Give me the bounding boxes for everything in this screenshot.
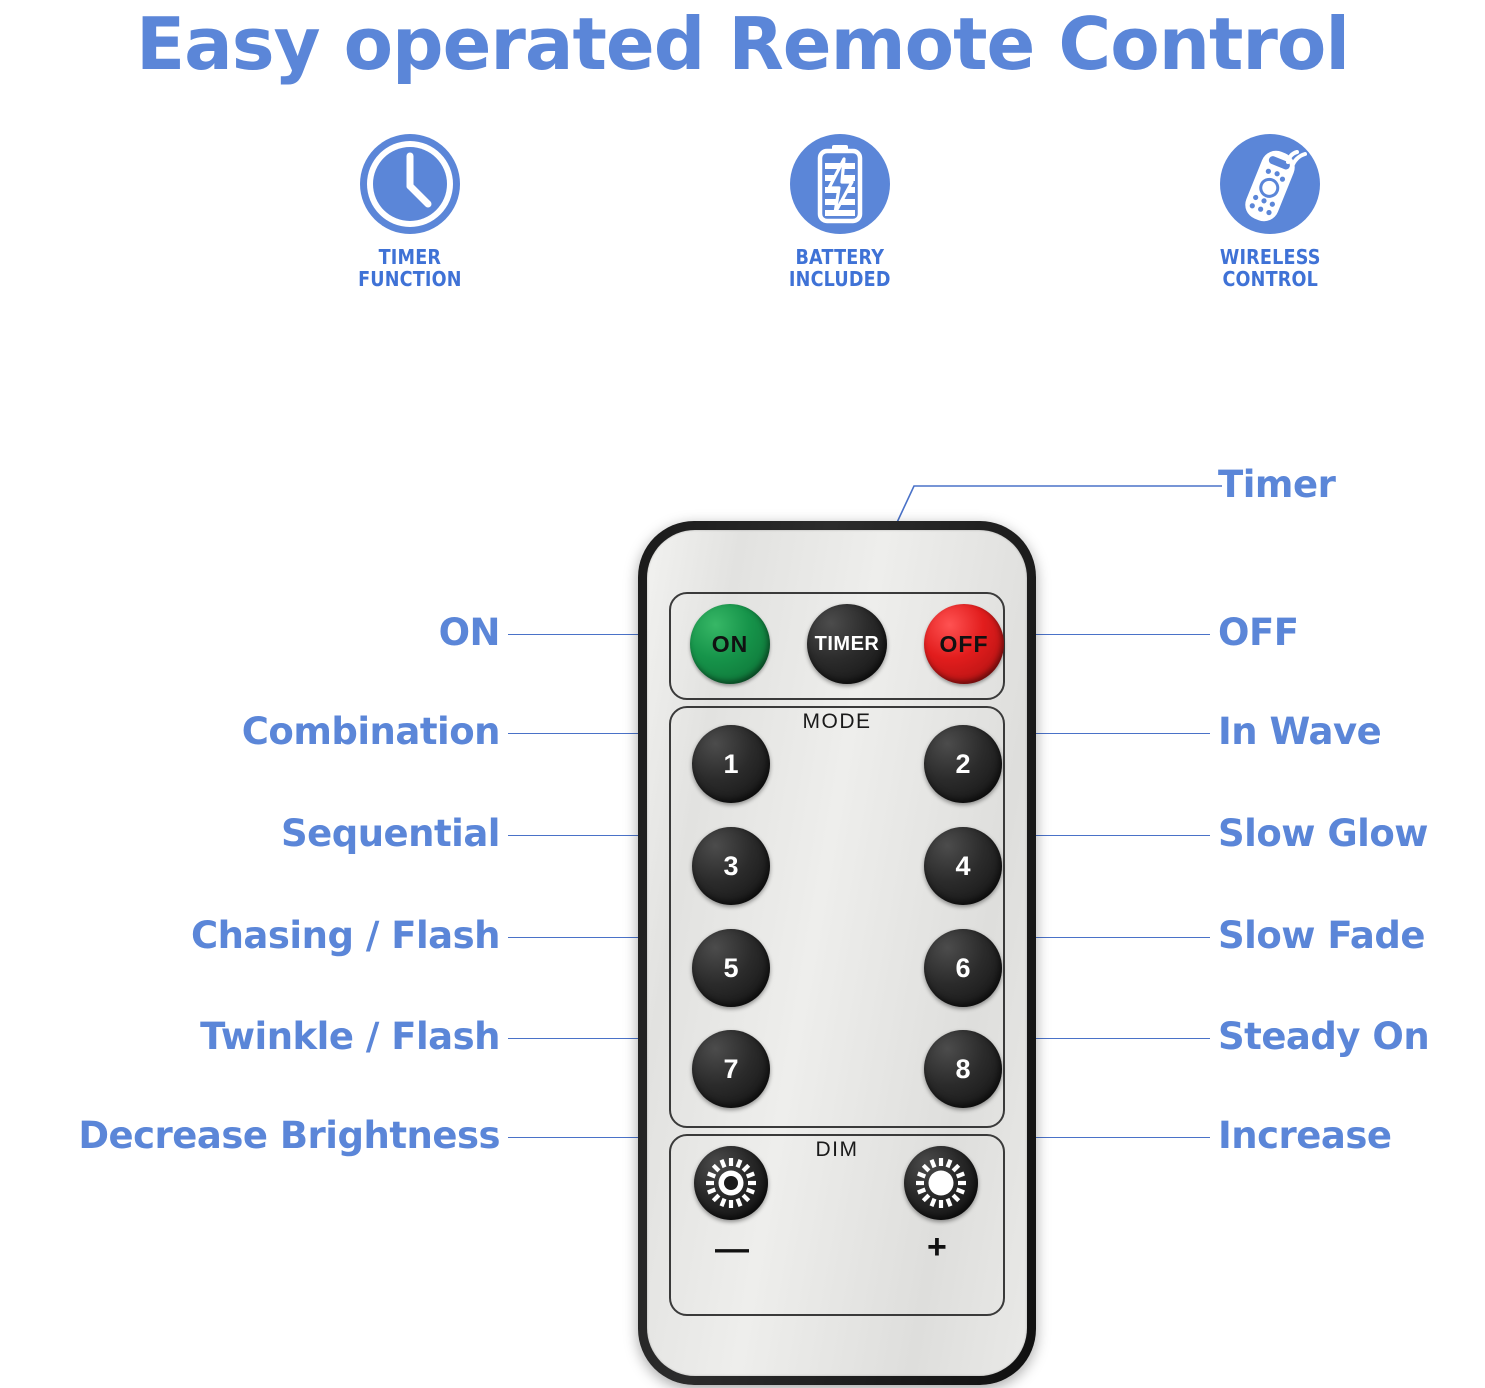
- callout-slow-glow: Slow Glow: [1218, 812, 1428, 855]
- feature-label: TIMER FUNCTION: [358, 246, 462, 291]
- feature-label: BATTERY INCLUDED: [789, 246, 891, 291]
- clock-icon: [358, 132, 462, 236]
- remote-faceplate: ON TIMER OFF MODE 1 2 3 4 5 6 7 8 DIM: [647, 530, 1027, 1376]
- callout-steady-on: Steady On: [1218, 1015, 1429, 1058]
- callout-sequential: Sequential: [0, 812, 500, 855]
- mode-button-8[interactable]: 8: [924, 1030, 1002, 1108]
- callout-decrease-brightness: Decrease Brightness: [0, 1114, 500, 1157]
- callout-slow-fade: Slow Fade: [1218, 914, 1425, 957]
- timer-button[interactable]: TIMER: [807, 604, 887, 684]
- mode-button-1[interactable]: 1: [692, 725, 770, 803]
- mode-button-2[interactable]: 2: [924, 725, 1002, 803]
- battery-icon: [788, 132, 892, 236]
- feature-list: TIMER FUNCTION BATTERY INCLUDED: [300, 132, 1380, 322]
- callout-on: ON: [0, 611, 500, 654]
- sun-bright-icon: [913, 1155, 969, 1211]
- feature-timer-function: TIMER FUNCTION: [300, 132, 520, 291]
- mode-button-6[interactable]: 6: [924, 929, 1002, 1007]
- callout-chasing-flash: Chasing / Flash: [0, 914, 500, 957]
- callout-combination: Combination: [0, 710, 500, 753]
- dim-plus-label: +: [927, 1228, 947, 1267]
- callout-twinkle-flash: Twinkle / Flash: [0, 1015, 500, 1058]
- callout-off: OFF: [1218, 611, 1299, 654]
- sun-dim-icon: [703, 1155, 759, 1211]
- feature-battery-included: BATTERY INCLUDED: [730, 132, 950, 291]
- dim-minus-label: —: [715, 1230, 749, 1269]
- mode-button-5[interactable]: 5: [692, 929, 770, 1007]
- remote-signal-icon: [1218, 132, 1322, 236]
- mode-button-4[interactable]: 4: [924, 827, 1002, 905]
- remote-control-device: ON TIMER OFF MODE 1 2 3 4 5 6 7 8 DIM: [638, 521, 1036, 1385]
- feature-label: WIRELESS CONTROL: [1220, 246, 1321, 291]
- dim-down-button[interactable]: [694, 1146, 768, 1220]
- page-title: Easy operated Remote Control: [0, 2, 1485, 86]
- callout-in-wave: In Wave: [1218, 710, 1381, 753]
- mode-button-3[interactable]: 3: [692, 827, 770, 905]
- callout-timer: Timer: [1218, 463, 1335, 506]
- off-button[interactable]: OFF: [924, 604, 1004, 684]
- feature-wireless-control: WIRELESS CONTROL: [1160, 132, 1380, 291]
- callout-increase: Increase: [1218, 1114, 1391, 1157]
- on-button[interactable]: ON: [690, 604, 770, 684]
- mode-button-7[interactable]: 7: [692, 1030, 770, 1108]
- dim-up-button[interactable]: [904, 1146, 978, 1220]
